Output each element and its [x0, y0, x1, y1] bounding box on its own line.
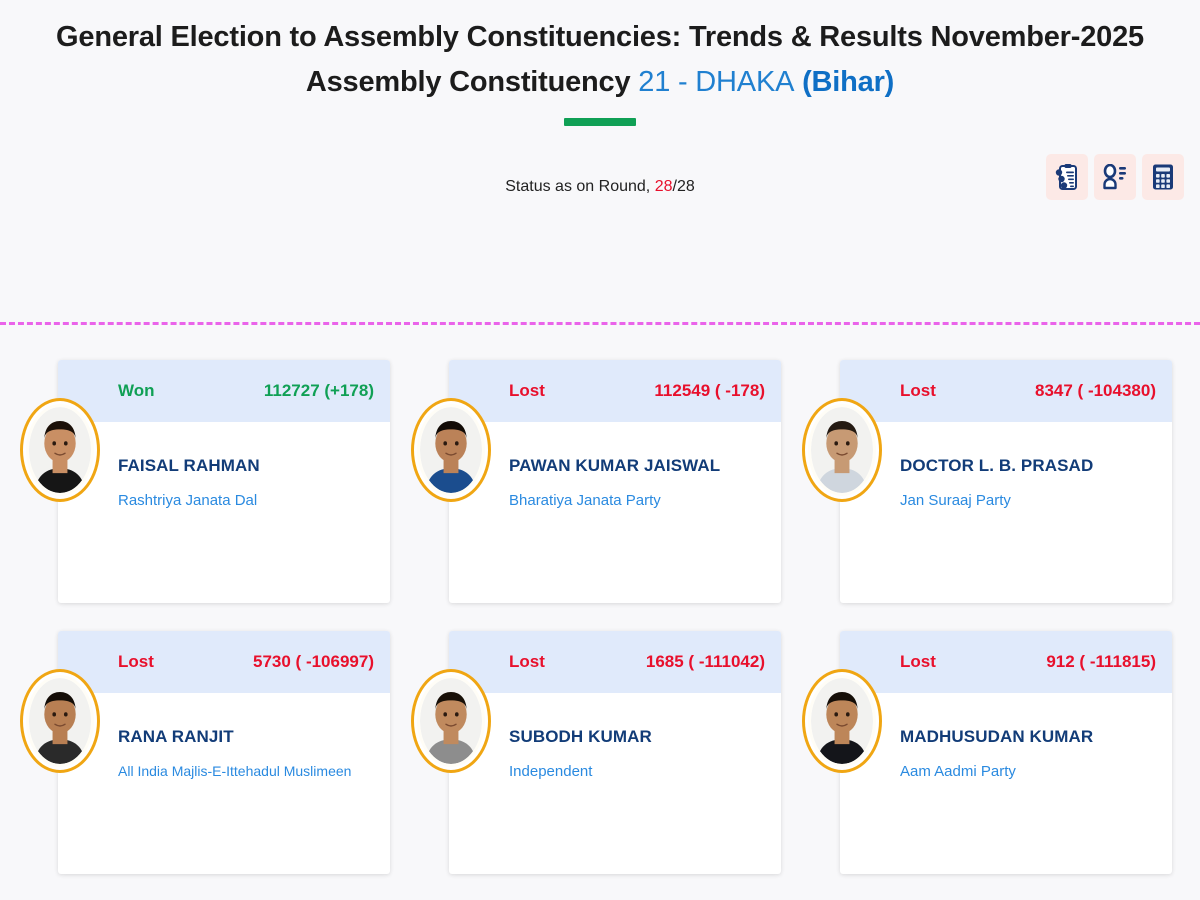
candidate-card[interactable]: Lost 112549 ( -178) PAWAN KUMAR JAISWAL …: [449, 360, 781, 603]
status-row: Status as on Round, 28/28: [0, 148, 1200, 240]
candidate-avatar: [20, 398, 100, 502]
candidate-name: DOCTOR L. B. PRASAD: [900, 456, 1158, 476]
candidate-name: PAWAN KUMAR JAISWAL: [509, 456, 767, 476]
candidate-photo: [420, 407, 482, 493]
candidate-name: MADHUSUDAN KUMAR: [900, 727, 1158, 747]
candidate-card-header: Lost 112549 ( -178): [449, 360, 781, 422]
candidate-avatar: [802, 669, 882, 773]
candidate-card[interactable]: Won 112727 (+178) FAISAL RAHMAN Rashtriy…: [58, 360, 390, 603]
vote-count: 912 ( -111815): [1046, 652, 1156, 672]
toolbar-icon-group: [1046, 154, 1184, 200]
candidate-id-icon: [1102, 164, 1128, 190]
candidate-card-body: DOCTOR L. B. PRASAD Jan Suraaj Party: [840, 422, 1172, 509]
section-divider: [0, 322, 1200, 325]
candidate-party: Independent: [509, 763, 767, 780]
avatar-ring: [808, 675, 876, 767]
candidate-card-header: Lost 8347 ( -104380): [840, 360, 1172, 422]
avatar-ring: [808, 404, 876, 496]
result-status-badge: Lost: [509, 652, 545, 672]
candidate-name: RANA RANJIT: [118, 727, 376, 747]
vote-count: 112549 ( -178): [654, 381, 765, 401]
vote-count: 1685 ( -111042): [646, 652, 765, 672]
candidate-name: SUBODH KUMAR: [509, 727, 767, 747]
candidate-photo: [811, 678, 873, 764]
candidate-card[interactable]: Lost 8347 ( -104380) DOCTOR L. B. PRASAD…: [840, 360, 1172, 603]
candidate-card[interactable]: Lost 912 ( -111815) MADHUSUDAN KUMAR Aam…: [840, 631, 1172, 874]
candidate-card-header: Lost 1685 ( -111042): [449, 631, 781, 693]
clipboard-list-icon: [1055, 163, 1079, 191]
candidate-party: Rashtriya Janata Dal: [118, 492, 376, 509]
vote-count: 5730 ( -106997): [253, 652, 374, 672]
page-header: General Election to Assembly Constituenc…: [0, 0, 1200, 126]
candidate-party: Bharatiya Janata Party: [509, 492, 767, 509]
avatar-ring: [26, 675, 94, 767]
candidate-card-body: FAISAL RAHMAN Rashtriya Janata Dal: [58, 422, 390, 509]
candidate-avatar: [411, 669, 491, 773]
avatar-ring: [417, 675, 485, 767]
result-status-badge: Lost: [509, 381, 545, 401]
candidate-card-body: SUBODH KUMAR Independent: [449, 693, 781, 780]
candidate-photo: [29, 678, 91, 764]
candidate-card-body: MADHUSUDAN KUMAR Aam Aadmi Party: [840, 693, 1172, 780]
round-status-label: Status as on Round,: [505, 178, 650, 195]
title-accent-underline: [564, 118, 636, 126]
clipboard-list-button[interactable]: [1046, 154, 1088, 200]
candidate-card-body: PAWAN KUMAR JAISWAL Bharatiya Janata Par…: [449, 422, 781, 509]
calculator-grid-icon: [1151, 163, 1175, 191]
constituency-name: 21 - DHAKA: [638, 66, 794, 98]
candidate-cards-grid: Won 112727 (+178) FAISAL RAHMAN Rashtriy…: [0, 360, 1200, 874]
page-title-line1: General Election to Assembly Constituenc…: [0, 18, 1200, 57]
candidate-party: All India Majlis-E-Ittehadul Muslimeen: [118, 763, 376, 779]
current-round-value: 28: [655, 178, 673, 195]
candidate-card[interactable]: Lost 1685 ( -111042) SUBODH KUMAR Indepe…: [449, 631, 781, 874]
candidate-id-button[interactable]: [1094, 154, 1136, 200]
avatar-ring: [26, 404, 94, 496]
candidate-card-header: Won 112727 (+178): [58, 360, 390, 422]
avatar-ring: [417, 404, 485, 496]
round-status-text: Status as on Round, 28/28: [0, 178, 1200, 196]
candidate-photo: [420, 678, 482, 764]
result-status-badge: Lost: [900, 381, 936, 401]
candidate-card-header: Lost 5730 ( -106997): [58, 631, 390, 693]
calculator-grid-button[interactable]: [1142, 154, 1184, 200]
election-results-page: General Election to Assembly Constituenc…: [0, 0, 1200, 900]
candidate-party: Jan Suraaj Party: [900, 492, 1158, 509]
candidate-party: Aam Aadmi Party: [900, 763, 1158, 780]
vote-count: 112727 (+178): [264, 381, 374, 401]
constituency-prefix-label: Assembly Constituency: [306, 66, 631, 98]
candidate-name: FAISAL RAHMAN: [118, 456, 376, 476]
result-status-badge: Won: [118, 381, 155, 401]
candidate-photo: [29, 407, 91, 493]
candidate-card-body: RANA RANJIT All India Majlis-E-Ittehadul…: [58, 693, 390, 779]
total-rounds-value: 28: [677, 178, 695, 195]
candidate-avatar: [802, 398, 882, 502]
state-name: (Bihar): [802, 66, 894, 98]
candidate-avatar: [20, 669, 100, 773]
candidate-card-header: Lost 912 ( -111815): [840, 631, 1172, 693]
vote-count: 8347 ( -104380): [1035, 381, 1156, 401]
result-status-badge: Lost: [118, 652, 154, 672]
page-title-line2: Assembly Constituency 21 - DHAKA (Bihar): [0, 63, 1200, 102]
candidate-card[interactable]: Lost 5730 ( -106997) RANA RANJIT All Ind…: [58, 631, 390, 874]
result-status-badge: Lost: [900, 652, 936, 672]
candidate-photo: [811, 407, 873, 493]
candidate-avatar: [411, 398, 491, 502]
